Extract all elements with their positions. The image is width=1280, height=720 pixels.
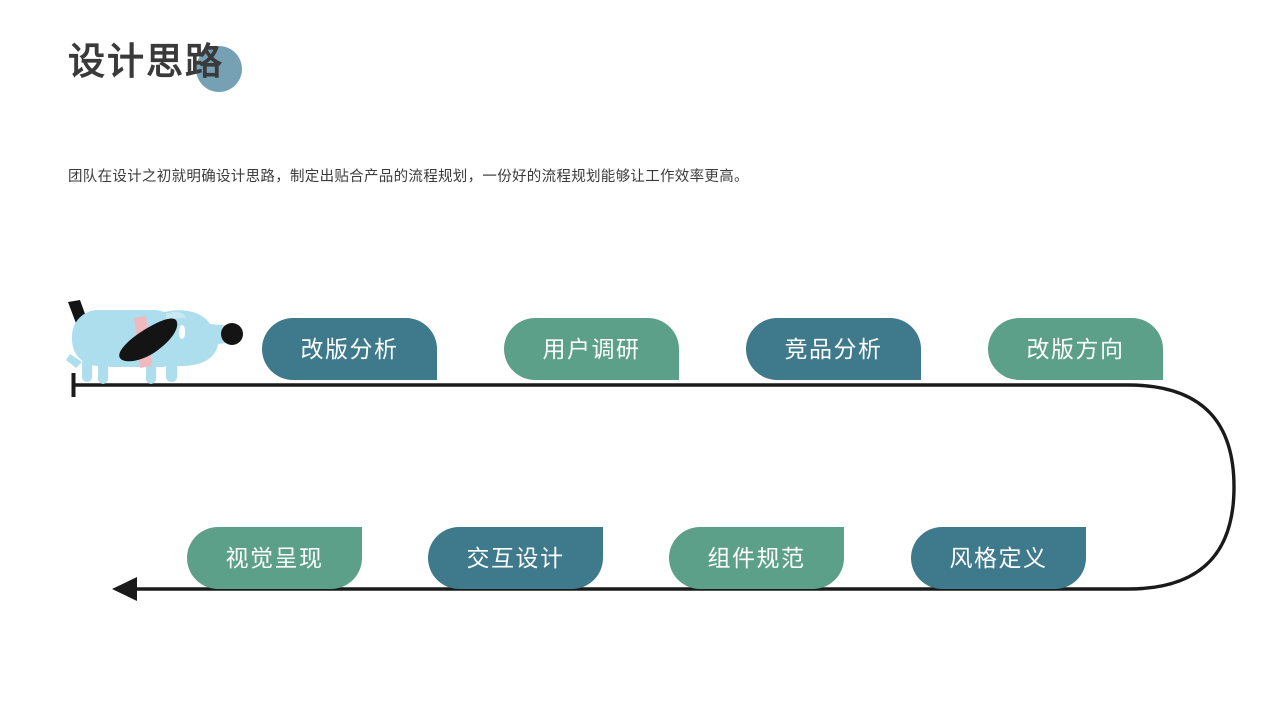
page-title-text: 设计思路 <box>68 36 224 88</box>
flow-step-label: 用户调研 <box>543 336 641 362</box>
arrow-left-head <box>112 577 137 601</box>
flow-step-label: 视觉呈现 <box>226 545 324 571</box>
dog-nose <box>221 323 243 345</box>
flow-step-label: 竞品分析 <box>785 336 883 362</box>
flow-step-top-4[interactable]: 改版方向 <box>988 318 1163 380</box>
flow-step-label: 组件规范 <box>708 545 806 571</box>
dog-illustration <box>58 296 248 388</box>
flow-step-label: 改版分析 <box>301 336 399 362</box>
flow-step-top-1[interactable]: 改版分析 <box>262 318 437 380</box>
flow-step-label: 风格定义 <box>950 545 1048 571</box>
flow-step-bottom-3[interactable]: 组件规范 <box>669 527 844 589</box>
page-subtitle: 团队在设计之初就明确设计思路，制定出贴合产品的流程规划，一份好的流程规划能够让工… <box>68 166 749 188</box>
slide-canvas: 设计思路 团队在设计之初就明确设计思路，制定出贴合产品的流程规划，一份好的流程规… <box>0 0 1280 720</box>
page-title: 设计思路 <box>68 36 224 88</box>
flow-step-label: 交互设计 <box>467 545 565 571</box>
dog-eye <box>179 325 185 339</box>
flow-step-label: 改版方向 <box>1027 336 1125 362</box>
flow-step-bottom-4[interactable]: 风格定义 <box>911 527 1086 589</box>
flow-step-bottom-2[interactable]: 交互设计 <box>428 527 603 589</box>
flow-step-top-3[interactable]: 竞品分析 <box>746 318 921 380</box>
flow-step-bottom-1[interactable]: 视觉呈现 <box>187 527 362 589</box>
flow-step-top-2[interactable]: 用户调研 <box>504 318 679 380</box>
